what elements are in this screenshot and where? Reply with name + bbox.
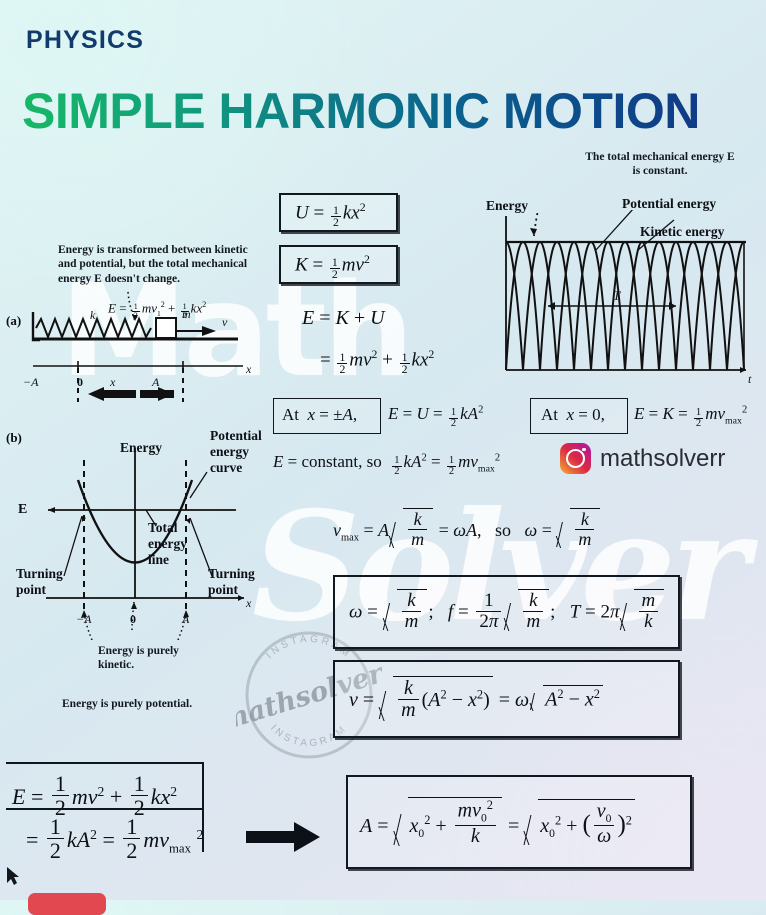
formula-total-energy-line1: E = K + U bbox=[302, 307, 385, 330]
figure-a-tick-neg-a: −A bbox=[23, 375, 38, 390]
figure-a-mass-label: m bbox=[182, 307, 191, 322]
figure-a-tick-x: x bbox=[110, 375, 115, 390]
figure-b-label: (b) bbox=[6, 430, 22, 446]
formula-bottom-left-line2: = 12kA2 = 12mvmax 2 bbox=[26, 815, 203, 862]
figure-b-total-energy-label: Total energy line bbox=[148, 520, 198, 568]
figure-a-spring-label: k bbox=[90, 308, 95, 323]
formula-box-potential-energy: U = 12kx2 bbox=[279, 193, 398, 232]
formula-vmax-line: vmax = Akm = ωA, so ω = km bbox=[333, 508, 601, 549]
formula-at-origin-result: E = K = 12mvmax2 bbox=[634, 404, 747, 430]
bottom-red-bar bbox=[28, 893, 106, 915]
instagram-handle-text: mathsolverr bbox=[600, 445, 725, 473]
figure-a-caption: Energy is transformed between kinetic an… bbox=[58, 243, 258, 286]
instagram-icon bbox=[560, 443, 591, 474]
figure-a-axis-label: x bbox=[246, 362, 251, 377]
instagram-handle[interactable]: mathsolverr bbox=[560, 443, 725, 474]
energy-graph-diagram bbox=[488, 210, 756, 382]
figure-a-equation: E = 12mv12 + 12kx2 bbox=[108, 300, 206, 320]
figure-b-y-axis-label: Energy bbox=[120, 440, 162, 456]
formula-constant-line: E = constant, so 12kA2 = 12mvmax2 bbox=[273, 452, 500, 478]
figure-b-tick-neg-a: −A bbox=[76, 612, 91, 627]
page-kicker: PHYSICS bbox=[26, 26, 144, 55]
formula-divider bbox=[6, 808, 202, 810]
formula-at-amplitude-result: E = U = 12kA2 bbox=[388, 404, 483, 430]
figure-b-tick-zero: 0 bbox=[130, 612, 136, 627]
formula-total-energy-line2: = 12mv2 + 12kx2 bbox=[320, 348, 434, 376]
formula-box-velocity: v = km(A2 − x2) = ωA2 − x2 bbox=[333, 660, 680, 738]
formula-bottom-left-line1: E = 12mv2 + 12kx2 bbox=[12, 772, 177, 819]
cursor-icon bbox=[6, 866, 22, 886]
figure-b-turning-point-left: Turning point bbox=[16, 566, 72, 598]
figure-a-label: (a) bbox=[6, 313, 21, 329]
figure-b-energy-level-label: E bbox=[18, 502, 27, 518]
formula-box-at-amplitude: At x = ±A, bbox=[273, 398, 381, 434]
figure-b-tick-a: A bbox=[182, 612, 189, 627]
figure-a-tick-zero: 0 bbox=[77, 375, 83, 390]
figure-a-tick-a: A bbox=[152, 375, 159, 390]
study-sheet: Math Solver INSTAGRAM INSTAGRAM mathsolv… bbox=[0, 0, 766, 900]
formula-box-at-origin: At x = 0, bbox=[530, 398, 628, 434]
figure-b-note-kinetic: Energy is purely kinetic. bbox=[98, 645, 190, 673]
figure-b-x-axis-label: x bbox=[246, 596, 251, 611]
figure-b-note-potential: Energy is purely potential. bbox=[62, 697, 252, 711]
formula-box-amplitude: A = x02 + mv02k = x02 + (v0ω)2 bbox=[346, 775, 692, 869]
formula-box-omega-f-period: ω = km; f = 12πkm; T = 2πmk bbox=[333, 575, 680, 649]
figure-a-velocity-label: v⃗ bbox=[222, 315, 237, 330]
figure-b-turning-point-right: Turning point bbox=[208, 566, 264, 598]
page-title: SIMPLE HARMONIC MOTION bbox=[22, 82, 700, 140]
formula-box-kinetic-energy: K = 12mv2 bbox=[279, 245, 398, 284]
arrow-right-icon bbox=[246, 820, 322, 854]
figure-b-curve-label: Potential energy curve bbox=[210, 428, 268, 476]
energy-graph-annotation-total: The total mechanical energy E is constan… bbox=[580, 150, 740, 179]
